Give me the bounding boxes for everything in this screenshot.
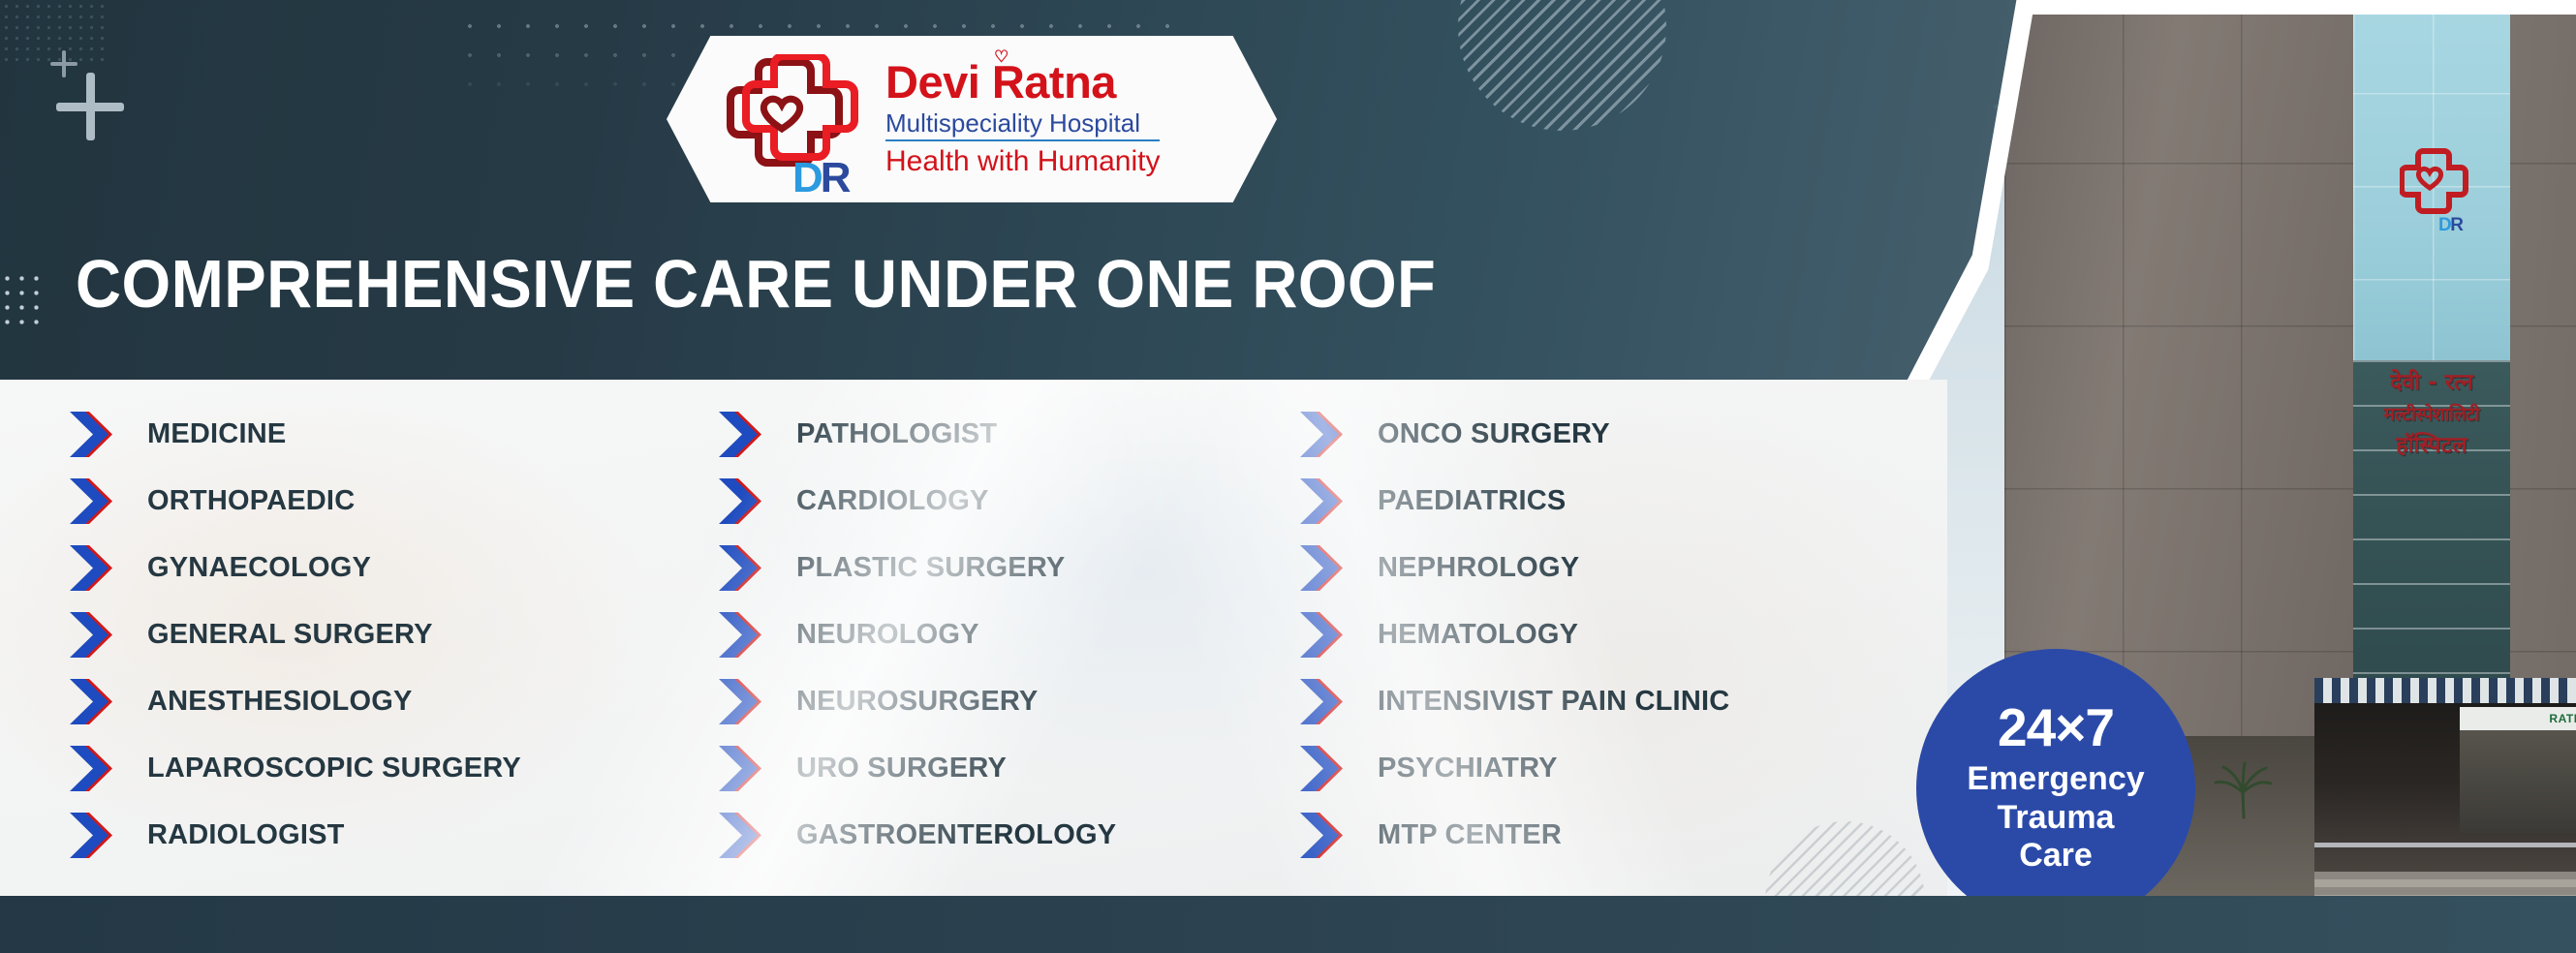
photo-pharmacy-sign-text: RATNA MEDICAL <box>2549 712 2576 725</box>
service-item[interactable]: PATHOLOGIST <box>719 401 1116 468</box>
service-label: INTENSIVIST PAIN CLINIC <box>1378 686 1729 718</box>
service-item[interactable]: GYNAECOLOGY <box>70 535 521 601</box>
chevron-arrow-icon <box>1300 746 1364 791</box>
photo-railing <box>2314 843 2576 847</box>
service-item[interactable]: RADIOLOGIST <box>70 802 521 869</box>
service-label: GYNAECOLOGY <box>147 552 371 584</box>
service-label: PSYCHIATRY <box>1378 753 1558 784</box>
service-label: PATHOLOGIST <box>796 418 997 450</box>
badge-line-trauma: Trauma <box>1998 799 2115 837</box>
chevron-arrow-icon <box>1300 612 1364 658</box>
page-title: COMPREHENSIVE CARE UNDER ONE ROOF <box>76 250 1436 318</box>
service-item[interactable]: NEUROSURGERY <box>719 668 1116 735</box>
badge-line-emergency: Emergency <box>1967 760 2144 798</box>
service-label: ANESTHESIOLOGY <box>147 686 413 718</box>
service-label: GASTROENTEROLOGY <box>796 819 1116 851</box>
chevron-arrow-icon <box>719 679 783 724</box>
heart-icon: ♡ <box>994 48 1009 65</box>
service-item[interactable]: PAEDIATRICS <box>1300 468 1729 535</box>
chevron-arrow-icon <box>70 679 134 724</box>
logo-monogram-r: R <box>821 154 849 201</box>
logo-monogram-dr: DR <box>792 154 849 202</box>
brand-tagline: Health with Humanity <box>885 141 1160 180</box>
service-item[interactable]: INTENSIVIST PAIN CLINIC <box>1300 668 1729 735</box>
service-item[interactable]: GENERAL SURGERY <box>70 601 521 668</box>
dot-grid-left-decoration <box>0 271 45 331</box>
plus-icon-large <box>56 73 124 140</box>
brand-name: Devi Ratna♡ <box>885 59 1160 105</box>
chevron-arrow-icon <box>719 746 783 791</box>
service-item[interactable]: ANESTHESIOLOGY <box>70 668 521 735</box>
service-label: HEMATOLOGY <box>1378 619 1578 651</box>
service-item[interactable]: MEDICINE <box>70 401 521 468</box>
service-item[interactable]: NEUROLOGY <box>719 601 1116 668</box>
badge-line-care: Care <box>2019 837 2093 875</box>
chevron-arrow-icon <box>70 813 134 858</box>
dot-grid-corner-decoration <box>0 0 107 68</box>
service-label: PLASTIC SURGERY <box>796 552 1065 584</box>
services-panel: MEDICINE ORTHOPAEDIC GYNAECOLOGY GENERAL… <box>0 380 1947 896</box>
service-item[interactable]: ONCO SURGERY <box>1300 401 1729 468</box>
chevron-arrow-icon <box>70 545 134 591</box>
chevron-arrow-icon <box>1300 679 1364 724</box>
service-item[interactable]: LAPAROSCOPIC SURGERY <box>70 735 521 802</box>
logo-text-block: Devi Ratna♡ Multispeciality Hospital Hea… <box>885 59 1160 179</box>
service-label: ONCO SURGERY <box>1378 418 1610 450</box>
chevron-arrow-icon <box>70 412 134 457</box>
chevron-arrow-icon <box>70 478 134 524</box>
photo-sign-line-3: हॉस्पिटल <box>2353 429 2510 464</box>
photo-palm-plant <box>2210 761 2278 819</box>
chevron-arrow-icon <box>719 545 783 591</box>
service-label: NEUROLOGY <box>796 619 979 651</box>
service-label: URO SURGERY <box>796 753 1007 784</box>
chevron-arrow-icon <box>719 412 783 457</box>
chevron-arrow-icon <box>70 612 134 658</box>
service-item[interactable]: PLASTIC SURGERY <box>719 535 1116 601</box>
chevron-arrow-icon <box>1300 478 1364 524</box>
hospital-logo-badge: DR Devi Ratna♡ Multispeciality Hospital … <box>667 36 1277 202</box>
chevron-arrow-icon <box>70 746 134 791</box>
service-label: NEUROSURGERY <box>796 686 1038 718</box>
chevron-arrow-icon <box>719 612 783 658</box>
photo-sign-line-1: देवी - रत्न <box>2353 366 2510 401</box>
chevron-arrow-icon <box>719 478 783 524</box>
logo-monogram-d: D <box>792 154 821 201</box>
service-item[interactable]: MTP CENTER <box>1300 802 1729 869</box>
service-label: PAEDIATRICS <box>1378 485 1566 517</box>
service-label: CARDIOLOGY <box>796 485 989 517</box>
service-item[interactable]: GASTROENTEROLOGY <box>719 802 1116 869</box>
services-column-2: PATHOLOGIST CARDIOLOGY PLASTIC SURGERY N… <box>719 401 1116 869</box>
chevron-arrow-icon <box>1300 813 1364 858</box>
service-item[interactable]: PSYCHIATRY <box>1300 735 1729 802</box>
striped-circle-top-decoration <box>1458 0 1666 131</box>
chevron-arrow-icon <box>1300 412 1364 457</box>
chevron-arrow-icon <box>719 813 783 858</box>
service-label: MTP CENTER <box>1378 819 1562 851</box>
service-item[interactable]: HEMATOLOGY <box>1300 601 1729 668</box>
services-column-3: ONCO SURGERY PAEDIATRICS NEPHROLOGY HEMA… <box>1300 401 1729 869</box>
service-label: NEPHROLOGY <box>1378 552 1579 584</box>
service-label: LAPAROSCOPIC SURGERY <box>147 753 521 784</box>
services-columns: MEDICINE ORTHOPAEDIC GYNAECOLOGY GENERAL… <box>0 380 1947 896</box>
photo-sign-line-2: मल्टीस्पेशालिटी <box>2353 401 2510 429</box>
service-item[interactable]: URO SURGERY <box>719 735 1116 802</box>
hospital-services-banner: DR देवी - रत्न मल्टीस्पेशालिटी हॉस्पिटल … <box>0 0 2576 953</box>
service-item[interactable]: CARDIOLOGY <box>719 468 1116 535</box>
service-label: GENERAL SURGERY <box>147 619 433 651</box>
emergency-trauma-care-badge: 24×7 Emergency Trauma Care <box>1916 649 2195 928</box>
badge-hours: 24×7 <box>1998 701 2114 754</box>
service-label: RADIOLOGIST <box>147 819 345 851</box>
photo-building-cross-logo: DR <box>2400 145 2469 221</box>
photo-devanagari-signage: देवी - रत्न मल्टीस्पेशालिटी हॉस्पिटल <box>2353 366 2510 464</box>
service-item[interactable]: NEPHROLOGY <box>1300 535 1729 601</box>
hospital-cross-logo-icon: DR <box>723 54 868 185</box>
chevron-arrow-icon <box>1300 545 1364 591</box>
service-label: ORTHOPAEDIC <box>147 485 355 517</box>
brand-subtitle: Multispeciality Hospital <box>885 105 1160 141</box>
service-label: MEDICINE <box>147 418 286 450</box>
service-item[interactable]: ORTHOPAEDIC <box>70 468 521 535</box>
photo-pharmacy-sign: RATNA MEDICAL <box>2460 707 2576 730</box>
services-column-1: MEDICINE ORTHOPAEDIC GYNAECOLOGY GENERAL… <box>70 401 521 869</box>
footer-strip <box>0 896 2576 953</box>
plus-icon-small <box>50 50 78 77</box>
photo-awning <box>2314 678 2576 703</box>
